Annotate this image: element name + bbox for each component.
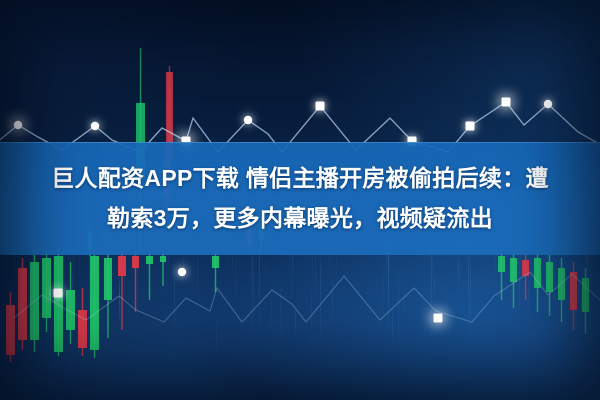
candlestick-group-left xyxy=(6,248,219,362)
headline-line-2: 勒索3万，更多内幕曝光，视频疑流出 xyxy=(0,198,600,238)
candlestick-group-right xyxy=(498,250,589,334)
headline-text: 巨人配资APP下载 情侣主播开房被偷拍后续：遭 勒索3万，更多内幕曝光，视频疑流… xyxy=(0,158,600,238)
news-thumbnail-image: 巨人配资APP下载 情侣主播开房被偷拍后续：遭 勒索3万，更多内幕曝光，视频疑流… xyxy=(0,0,600,400)
headline-line-1: 巨人配资APP下载 情侣主播开房被偷拍后续：遭 xyxy=(0,158,600,198)
headline-band-top-rule xyxy=(0,142,600,143)
